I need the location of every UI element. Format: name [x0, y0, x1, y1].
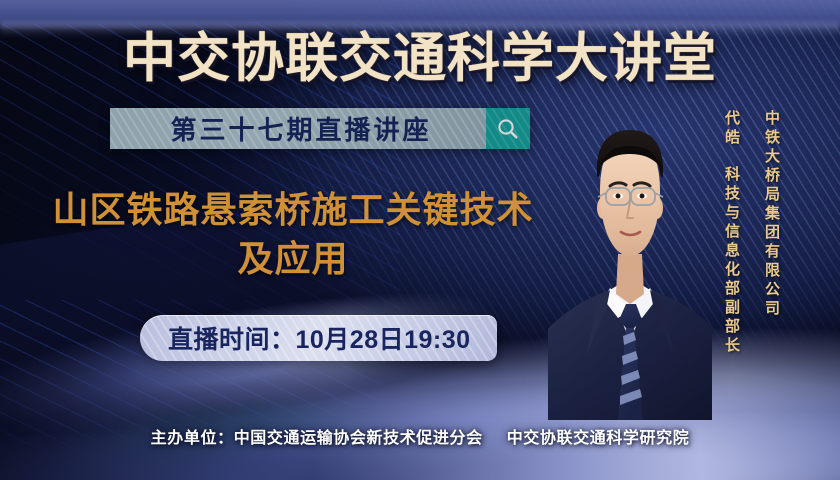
- search-icon: [495, 116, 521, 142]
- live-lecture-poster: 中交协联交通科学大讲堂 第三十七期直播讲座 山区铁路悬索桥施工关键技术 及应用 …: [0, 0, 840, 480]
- footer-organizer-2: 中交协联交通科学研究院: [507, 430, 690, 447]
- pupil-right: [640, 194, 645, 199]
- pupil-left: [616, 194, 621, 199]
- speaker-photo: [548, 104, 712, 420]
- footer-prefix: 主办单位：: [151, 430, 234, 447]
- broadcast-time-text: 直播时间：10月28日19:30: [168, 320, 471, 356]
- episode-label: 第三十七期直播讲座: [164, 110, 431, 147]
- episode-plate: 第三十七期直播讲座: [110, 108, 486, 149]
- episode-banner: 第三十七期直播讲座: [110, 108, 530, 149]
- footer-organizers: 主办单位：中国交通运输协会新技术促进分会中交协联交通科学研究院: [0, 424, 840, 448]
- speaker-role: 科技与信息化部副部长: [724, 166, 739, 356]
- search-button[interactable]: [486, 108, 530, 149]
- neck: [616, 254, 644, 304]
- broadcast-time-badge: 直播时间：10月28日19:30: [140, 315, 497, 361]
- lecture-title: 山区铁路悬索桥施工关键技术 及应用: [28, 186, 558, 284]
- speaker-organization: 中铁大桥局集团有限公司: [764, 110, 779, 319]
- footer-organizer-1: 中国交通运输协会新技术促进分会: [234, 430, 483, 447]
- portrait-group: [548, 130, 712, 420]
- lecture-title-line-2: 及应用: [28, 235, 558, 284]
- speaker-name: 代皓: [724, 110, 739, 148]
- page-title: 中交协联交通科学大讲堂: [0, 16, 840, 92]
- lecture-title-line-1: 山区铁路悬索桥施工关键技术: [28, 186, 558, 235]
